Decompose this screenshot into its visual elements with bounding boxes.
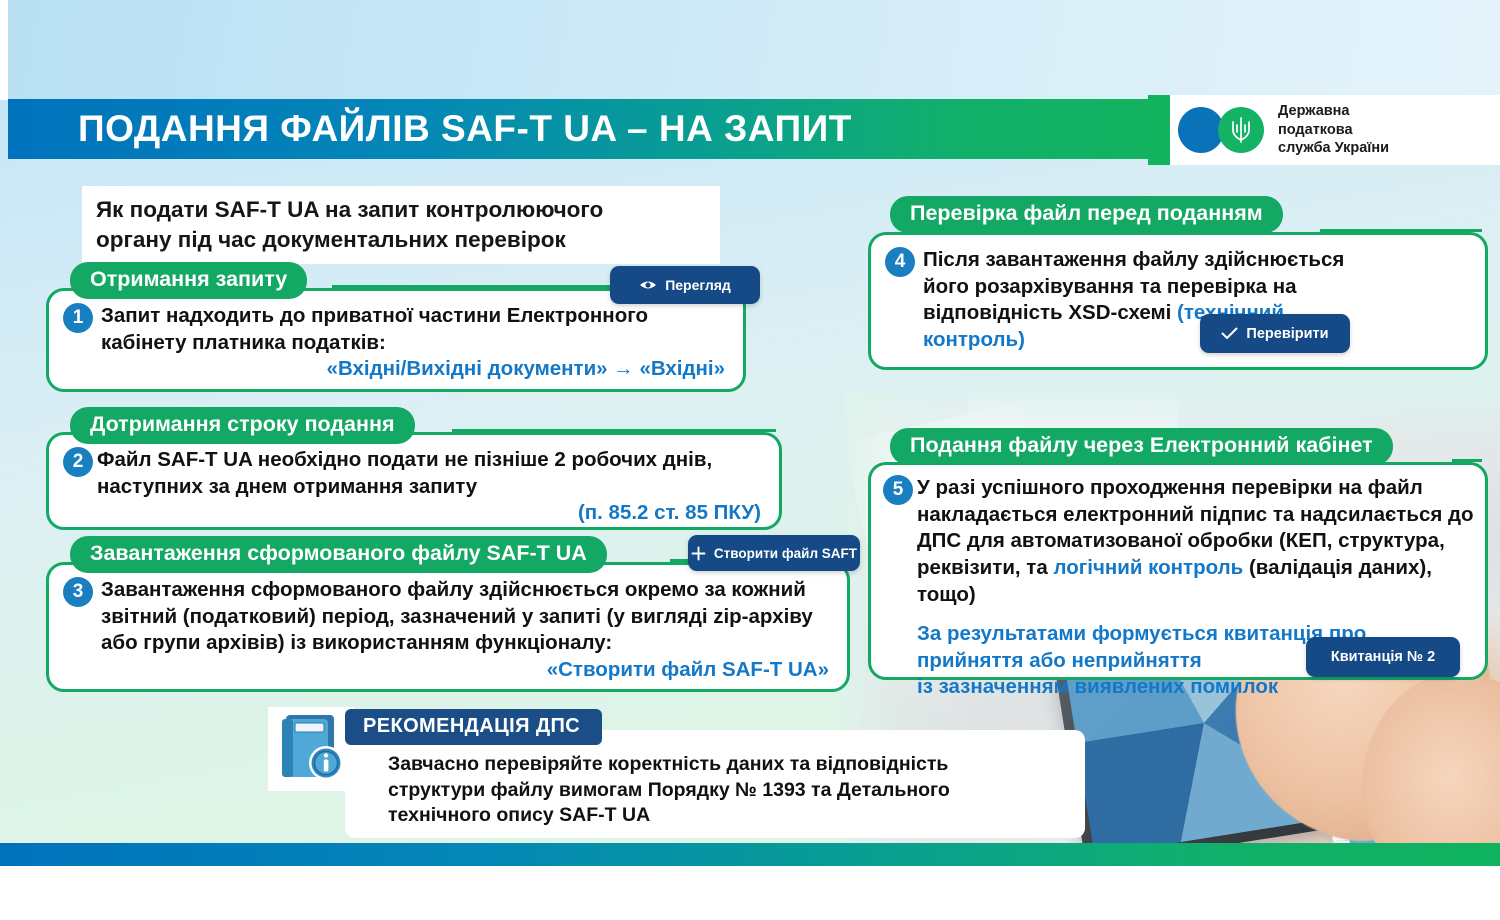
logo-text-line-3: служба України (1278, 139, 1389, 157)
create-saft-file-button[interactable]: Створити файл SAFT (688, 535, 860, 571)
step-1-text: Запит надходить до приватної частини Еле… (101, 304, 648, 354)
agency-logo: Державна податкова служба України (1148, 95, 1500, 165)
background-top-strip (0, 0, 1500, 100)
footer-bar (0, 843, 1500, 866)
intro-line-2: органу під час документальних перевірок (96, 225, 706, 255)
logo-text-line-2: податкова (1278, 121, 1389, 139)
view-button[interactable]: Перегляд (610, 266, 760, 304)
step-3-content: 3 Завантаження сформованого файлу здійсн… (49, 565, 847, 684)
infographic-poster: ПОДАННЯ ФАЙЛІВ SAF-T UA – НА ЗАПИТ Держа… (0, 0, 1500, 920)
step-heading-3: Завантаження сформованого файлу SAF-T UA (70, 536, 607, 573)
step-3-text-block: Завантаження сформованого файлу здійснює… (101, 577, 829, 684)
logo-text: Державна податкова служба України (1278, 102, 1389, 157)
step-number-badge-5: 5 (883, 475, 913, 505)
step-number-badge-3: 3 (63, 577, 93, 607)
view-button-label: Перегляд (665, 277, 731, 293)
receipt-button-label: Квитанція № 2 (1331, 649, 1435, 665)
book-info-icon (268, 707, 354, 791)
create-saft-file-label: Створити файл SAFT (714, 546, 857, 561)
connector-line-step-4 (1320, 229, 1482, 232)
step-2-text: Файл SAF-T UA необхідно подати не пізніш… (97, 448, 712, 498)
step-number-badge-4: 4 (885, 247, 915, 277)
step-heading-1: Отримання запиту (70, 262, 307, 299)
intro-box: Як подати SAF-T UA на запит контролюючог… (82, 186, 720, 264)
step-3-accent: «Створити файл SAF-T UA» (101, 657, 829, 684)
step-heading-5: Подання файлу через Електронний кабінет (890, 428, 1393, 465)
eye-icon (639, 279, 657, 291)
step-heading-4: Перевірка файл перед поданням (890, 196, 1283, 233)
verify-button-label: Перевірити (1246, 326, 1328, 342)
step-1-accent: «Вхідні/Вихідні документи» → «Вхідні» (101, 356, 725, 383)
step-card-3: 3 Завантаження сформованого файлу здійсн… (46, 562, 850, 692)
recommendation-line-2: структури файлу вимогам Порядку № 1393 т… (388, 778, 1048, 804)
step-4-content: 4 Після завантаження файлу здійснюється … (871, 235, 1485, 354)
recommendation-text: Завчасно перевіряйте коректність даних т… (388, 752, 1048, 829)
step-number-badge-1: 1 (63, 303, 93, 333)
step-2-accent: (п. 85.2 ст. 85 ПКУ) (97, 500, 761, 527)
trident-icon (1218, 107, 1264, 153)
recommendation-heading: РЕКОМЕНДАЦІЯ ДПС (345, 709, 602, 745)
step-2-text-block: Файл SAF-T UA необхідно подати не пізніш… (97, 447, 761, 527)
logo-green-bar (1148, 95, 1170, 165)
step-card-2: 2 Файл SAF-T UA необхідно подати не пізн… (46, 432, 782, 530)
step-5-note-line-3: із зазначенням виявлених помилок (917, 674, 1457, 701)
logo-text-line-1: Державна (1278, 102, 1389, 120)
step-heading-2: Дотримання строку подання (70, 407, 415, 444)
connector-line-step-5 (1452, 459, 1482, 462)
recommendation-line-3: технічного опису SAF-T UA (388, 803, 1048, 829)
intro-line-1: Як подати SAF-T UA на запит контролюючог… (96, 195, 706, 225)
recommendation-line-1: Завчасно перевіряйте коректність даних т… (388, 752, 1048, 778)
page-title: ПОДАННЯ ФАЙЛІВ SAF-T UA – НА ЗАПИТ (78, 108, 852, 150)
receipt-button[interactable]: Квитанція № 2 (1306, 637, 1460, 677)
step-5-accent-inline: логічний контроль (1053, 556, 1243, 579)
plus-icon (691, 546, 706, 561)
background-left-margin (0, 0, 8, 100)
step-2-content: 2 Файл SAF-T UA необхідно подати не пізн… (49, 435, 779, 527)
header-bar: ПОДАННЯ ФАЙЛІВ SAF-T UA – НА ЗАПИТ (8, 99, 1168, 159)
connector-line-step-2 (452, 429, 776, 432)
step-card-4: 4 Після завантаження файлу здійснюється … (868, 232, 1488, 370)
connector-line-step-1 (332, 285, 612, 288)
step-5-paragraph: У разі успішного проходження перевірки н… (917, 475, 1477, 608)
step-number-badge-2: 2 (63, 447, 93, 477)
step-1-text-block: Запит надходить до приватної частини Еле… (101, 303, 725, 383)
step-1-content: 1 Запит надходить до приватної частини Е… (49, 291, 743, 383)
verify-button[interactable]: Перевірити (1200, 314, 1350, 353)
step-3-text: Завантаження сформованого файлу здійснює… (101, 578, 813, 654)
check-icon (1221, 327, 1238, 340)
